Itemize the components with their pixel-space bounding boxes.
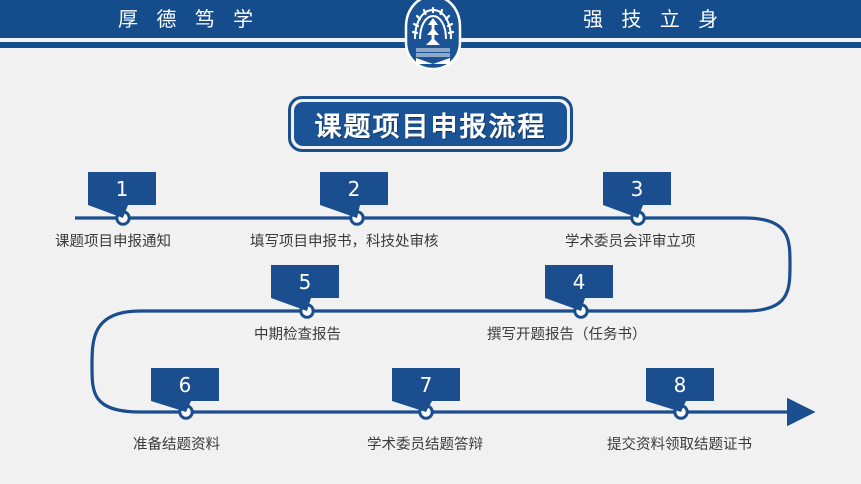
- step-caption-6: 准备结题资料: [133, 433, 220, 454]
- step-caption-8: 提交资料领取结题证书: [607, 433, 752, 454]
- step-badge-number: 3: [631, 177, 644, 201]
- step-badge-2[interactable]: 2: [320, 172, 388, 205]
- step-caption-3: 学术委员会评审立项: [565, 230, 696, 251]
- step-badge-tail-1: [88, 205, 128, 218]
- step-badge-number: 4: [573, 270, 586, 294]
- step-badge-number: 2: [348, 177, 361, 201]
- step-badge-6[interactable]: 6: [151, 368, 219, 401]
- step-caption-7: 学术委员结题答辩: [367, 433, 483, 454]
- step-badge-number: 7: [420, 373, 433, 397]
- step-badge-tail-3: [603, 205, 643, 218]
- step-badge-tail-5: [271, 298, 311, 311]
- step-badge-7[interactable]: 7: [392, 368, 460, 401]
- step-badge-number: 1: [116, 177, 129, 201]
- step-caption-5: 中期检查报告: [254, 323, 341, 344]
- step-badge-number: 6: [179, 373, 192, 397]
- step-badge-tail-6: [151, 401, 191, 412]
- step-badge-tail-2: [320, 205, 360, 218]
- step-badge-5[interactable]: 5: [271, 265, 339, 298]
- step-caption-1: 课题项目申报通知: [55, 230, 171, 251]
- step-badge-4[interactable]: 4: [545, 265, 613, 298]
- step-badge-3[interactable]: 3: [603, 172, 671, 205]
- step-badge-number: 5: [299, 270, 312, 294]
- step-badge-tail-4: [545, 298, 585, 311]
- step-badge-8[interactable]: 8: [646, 368, 714, 401]
- step-caption-2: 填写项目申报书，科技处审核: [250, 230, 439, 251]
- step-caption-4: 撰写开题报告（任务书）: [487, 323, 647, 344]
- university-emblem-icon: [398, 0, 468, 72]
- step-badge-tail-7: [392, 401, 432, 412]
- step-badge-tail-8: [646, 401, 686, 412]
- step-badge-1[interactable]: 1: [88, 172, 156, 205]
- step-badge-number: 8: [674, 373, 687, 397]
